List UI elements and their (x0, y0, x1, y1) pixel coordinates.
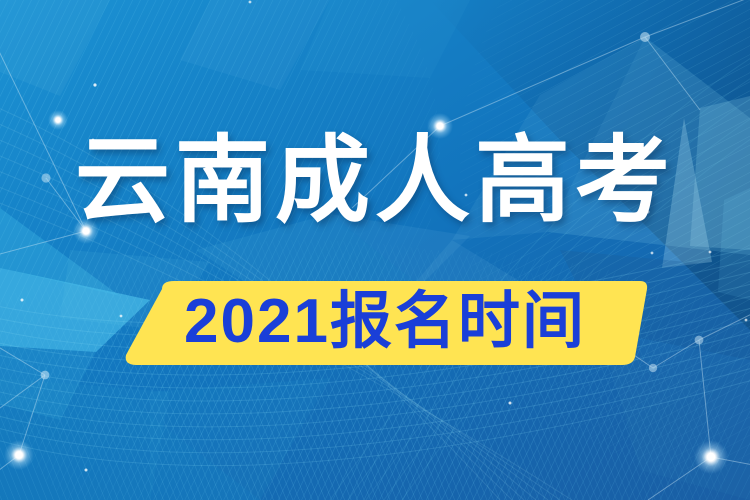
ribbon-label: 2021报名时间 (118, 279, 652, 365)
promotional-banner: 云南成人高考 2021报名时间 (0, 0, 750, 500)
content-layer: 云南成人高考 2021报名时间 (0, 0, 750, 500)
page-title: 云南成人高考 (0, 129, 750, 233)
subtitle-ribbon: 2021报名时间 (118, 279, 652, 369)
